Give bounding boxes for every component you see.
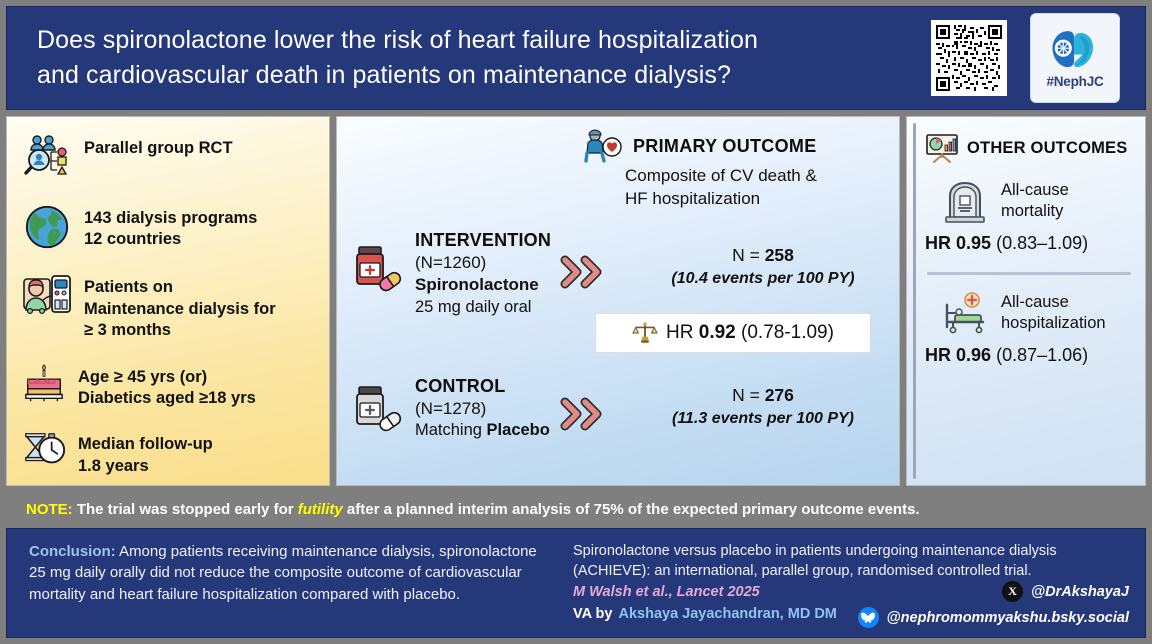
method-item-programs: 143 dialysis programs 12 countries bbox=[21, 201, 319, 253]
x-icon[interactable]: X bbox=[1002, 581, 1023, 602]
method-item-population: Patients on Maintenance dialysis for ≥ 3… bbox=[21, 270, 319, 341]
method-item-label: 143 dialysis programs 12 countries bbox=[84, 201, 257, 251]
arm-drug: Matching Placebo bbox=[415, 420, 550, 441]
outcome-hr: HR 0.95 (0.83–1.09) bbox=[923, 233, 1135, 254]
method-item-followup: Median follow-up 1.8 years bbox=[21, 427, 319, 477]
conclusion-text: Conclusion: Among patients receiving mai… bbox=[29, 541, 553, 605]
qr-code-icon[interactable] bbox=[931, 20, 1007, 96]
presentation-chart-icon bbox=[925, 133, 959, 163]
title-line-2: and cardiovascular death in patients on … bbox=[37, 58, 925, 94]
arm-n: (N=1260) bbox=[415, 252, 551, 274]
method-item-label: Parallel group RCT bbox=[84, 131, 233, 159]
note-text: NOTE: The trial was stopped early for fu… bbox=[26, 501, 920, 518]
citation-block: Spironolactone versus placebo in patient… bbox=[563, 529, 1145, 637]
title-line-1: Does spironolactone lower the risk of he… bbox=[37, 23, 925, 59]
arm-drug: Spironolactone bbox=[415, 274, 551, 296]
qr-code-container[interactable] bbox=[925, 17, 1013, 99]
rct-study-icon bbox=[21, 131, 73, 183]
method-item-label: Age ≥ 45 yrs (or) Diabetics aged ≥18 yrs bbox=[78, 360, 256, 410]
panels-row: Parallel group RCT 143 dialysis programs… bbox=[6, 116, 1146, 486]
x-handle-text[interactable]: @DrAkshayaJ bbox=[1031, 584, 1129, 600]
control-arm: CONTROL (N=1278) Matching Placebo bbox=[351, 375, 550, 442]
intervention-arm: INTERVENTION (N=1260) Spironolactone 25 … bbox=[351, 229, 551, 318]
gray-pill-bottle-icon bbox=[351, 381, 405, 435]
method-item-label: Median follow-up 1.8 years bbox=[78, 427, 213, 477]
note-bar: NOTE: The trial was stopped early for fu… bbox=[6, 492, 1146, 526]
other-outcomes-panel: OTHER OUTCOMES All-cause mortality bbox=[906, 116, 1146, 486]
other-outcomes-title: OTHER OUTCOMES bbox=[967, 139, 1127, 158]
method-item-rct: Parallel group RCT bbox=[21, 131, 319, 183]
tombstone-icon bbox=[941, 177, 989, 225]
control-results: N = 276 (11.3 events per 100 PY) bbox=[627, 385, 899, 428]
primary-hr-text: HR 0.92 (0.78-1.09) bbox=[666, 322, 834, 344]
intervention-results: N = 258 (10.4 events per 100 PY) bbox=[627, 245, 899, 288]
outcome-hr: HR 0.96 (0.87–1.06) bbox=[923, 345, 1135, 366]
kidney-icon bbox=[1048, 27, 1102, 73]
birthday-cake-icon bbox=[21, 360, 67, 406]
primary-outcome-header: PRIMARY OUTCOME bbox=[581, 129, 817, 163]
outcomes-divider bbox=[927, 272, 1131, 275]
method-item-age: Age ≥ 45 yrs (or) Diabetics aged ≥18 yrs bbox=[21, 360, 319, 410]
primary-outcome-title: PRIMARY OUTCOME bbox=[633, 136, 817, 157]
outcome-label: All-cause mortality bbox=[1001, 180, 1069, 222]
x-handle[interactable]: X @DrAkshayaJ bbox=[1002, 581, 1129, 602]
intervention-details: INTERVENTION (N=1260) Spironolactone 25 … bbox=[415, 229, 551, 318]
dialysis-patient-icon bbox=[21, 270, 73, 322]
control-details: CONTROL (N=1278) Matching Placebo bbox=[415, 375, 550, 442]
butterfly-icon[interactable] bbox=[858, 607, 879, 628]
arm-event-rate: (11.3 events per 100 PY) bbox=[627, 410, 899, 428]
nephjc-logo[interactable]: #NephJC bbox=[1031, 14, 1119, 102]
outcome-hospitalization: All-cause hospitalization HR 0.96 (0.87–… bbox=[923, 289, 1135, 366]
outcome-label: All-cause hospitalization bbox=[1001, 292, 1106, 334]
methods-panel: Parallel group RCT 143 dialysis programs… bbox=[6, 116, 330, 486]
balance-scale-icon bbox=[632, 320, 658, 346]
hospital-bed-icon bbox=[941, 289, 989, 337]
arm-n: (N=1278) bbox=[415, 398, 550, 420]
page-title: Does spironolactone lower the risk of he… bbox=[7, 23, 925, 94]
arm-title: INTERVENTION bbox=[415, 229, 551, 252]
double-chevron-icon bbox=[559, 397, 615, 431]
arm-dose: 25 mg daily oral bbox=[415, 297, 551, 318]
red-pill-bottle-icon bbox=[351, 241, 405, 295]
outcome-mortality: All-cause mortality HR 0.95 (0.83–1.09) bbox=[923, 177, 1135, 254]
double-chevron-icon bbox=[559, 255, 615, 289]
other-outcomes-header: OTHER OUTCOMES bbox=[925, 133, 1135, 163]
bluesky-handle-text[interactable]: @nephromommyakshu.bsky.social bbox=[887, 610, 1129, 626]
header-banner: Does spironolactone lower the risk of he… bbox=[6, 6, 1146, 110]
arm-event-rate: (10.4 events per 100 PY) bbox=[627, 270, 899, 288]
citation-line-1: Spironolactone versus placebo in patient… bbox=[573, 541, 1129, 561]
arm-events: N = 258 bbox=[627, 245, 899, 266]
conclusion-block: Conclusion: Among patients receiving mai… bbox=[7, 529, 563, 637]
stopwatch-icon bbox=[21, 427, 67, 473]
globe-icon bbox=[21, 201, 73, 253]
arm-events: N = 276 bbox=[627, 385, 899, 406]
primary-hr-box: HR 0.92 (0.78-1.09) bbox=[595, 313, 871, 353]
doctor-heart-icon bbox=[581, 129, 623, 163]
nephjc-logo-container[interactable]: #NephJC bbox=[1027, 13, 1123, 103]
citation-line-2: (ACHIEVE): an international, parallel gr… bbox=[573, 561, 1129, 581]
arm-title: CONTROL bbox=[415, 375, 550, 398]
primary-outcome-panel: PRIMARY OUTCOME Composite of CV death & … bbox=[336, 116, 900, 486]
method-item-label: Patients on Maintenance dialysis for ≥ 3… bbox=[84, 270, 276, 341]
primary-outcome-definition: Composite of CV death & HF hospitalizati… bbox=[625, 165, 887, 211]
footer-bar: Conclusion: Among patients receiving mai… bbox=[6, 528, 1146, 638]
logo-label: #NephJC bbox=[1046, 74, 1103, 89]
bluesky-handle[interactable]: @nephromommyakshu.bsky.social bbox=[858, 607, 1129, 628]
infographic-poster: Does spironolactone lower the risk of he… bbox=[0, 0, 1152, 644]
